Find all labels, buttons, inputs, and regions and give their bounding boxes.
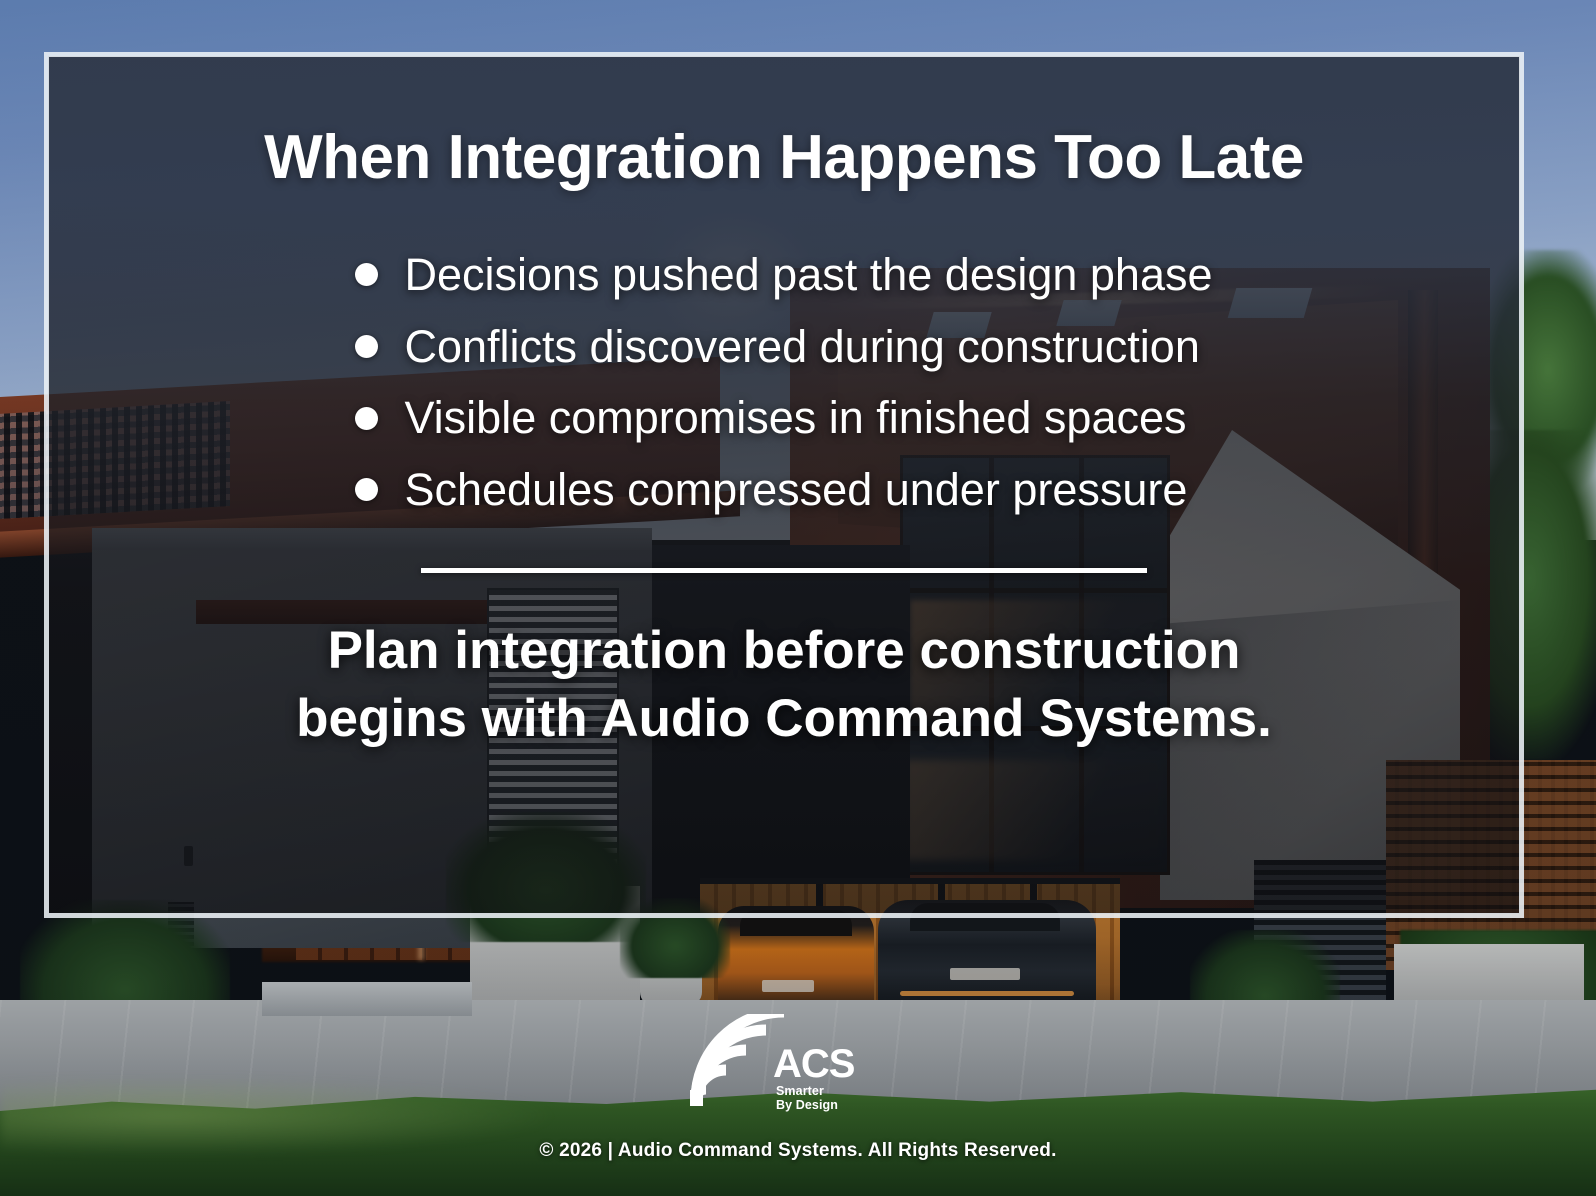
- pain-point-list: Decisions pushed past the design phase C…: [355, 251, 1212, 514]
- list-item-label: Visible compromises in finished spaces: [404, 394, 1186, 442]
- section-divider: [421, 568, 1147, 573]
- cta-line-2: begins with Audio Command Systems.: [296, 689, 1272, 748]
- poster-canvas: When Integration Happens Too Late Decisi…: [0, 0, 1596, 1196]
- acs-logo: ACS Smarter By Design: [690, 1014, 880, 1106]
- copyright-notice: © 2026 | Audio Command Systems. All Righ…: [0, 1140, 1596, 1162]
- bullet-dot-icon: [355, 407, 378, 430]
- list-item-label: Schedules compressed under pressure: [404, 466, 1187, 514]
- content-area: When Integration Happens Too Late Decisi…: [48, 56, 1520, 914]
- logo-tagline-line-2: By Design: [776, 1098, 838, 1112]
- bullet-dot-icon: [355, 478, 378, 501]
- page-title: When Integration Happens Too Late: [264, 122, 1304, 193]
- logo-wordmark: ACS: [773, 1044, 854, 1084]
- bullet-dot-icon: [355, 335, 378, 358]
- bullet-dot-icon: [355, 263, 378, 286]
- list-item-label: Conflicts discovered during construction: [404, 323, 1199, 371]
- cta-line-1: Plan integration before construction: [328, 621, 1241, 680]
- list-item: Conflicts discovered during construction: [355, 323, 1212, 371]
- list-item: Visible compromises in finished spaces: [355, 394, 1212, 442]
- list-item: Schedules compressed under pressure: [355, 466, 1212, 514]
- logo-tagline-line-1: Smarter: [776, 1084, 838, 1098]
- call-to-action: Plan integration before construction beg…: [224, 617, 1344, 753]
- list-item: Decisions pushed past the design phase: [355, 251, 1212, 299]
- list-item-label: Decisions pushed past the design phase: [404, 251, 1212, 299]
- logo-tagline: Smarter By Design: [776, 1084, 838, 1112]
